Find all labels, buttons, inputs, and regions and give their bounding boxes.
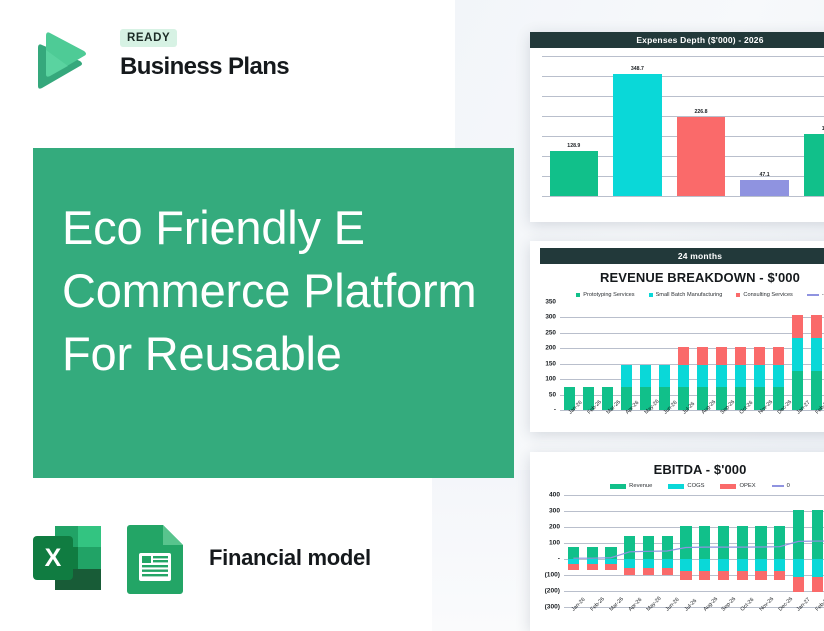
chart-legend-revenue: Prototyping ServicesSmall Batch Manufact… xyxy=(530,292,824,298)
google-sheets-icon xyxy=(123,521,187,595)
legend-item: Consulting Services xyxy=(736,292,792,298)
legend-label: OPEX xyxy=(739,483,755,489)
bar-segment xyxy=(773,347,784,365)
y-axis-tick: 300 xyxy=(549,508,560,515)
footer-label: Financial model xyxy=(209,545,371,571)
y-axis-tick: (300) xyxy=(545,604,560,611)
bar-segment xyxy=(697,347,708,365)
chart-legend-ebitda: RevenueCOGSOPEX0 xyxy=(530,483,824,489)
legend-item: - xyxy=(807,292,824,298)
gridline xyxy=(542,196,824,197)
chart-plot-revenue: 35030025020015010050-Jan-26Feb-26Mar-26A… xyxy=(560,302,824,410)
chart-banner-expenses: Expenses Depth ($'000) - 2026 xyxy=(530,32,824,48)
chart-card-expenses[interactable]: Expenses Depth ($'000) - 2026 128.9348.7… xyxy=(530,32,824,222)
ready-badge: READY xyxy=(120,29,177,47)
legend-item: Revenue xyxy=(610,483,652,489)
bar-segment xyxy=(716,347,727,365)
gridline xyxy=(560,395,824,396)
chart-plot-ebitda: 400300200100-(100)(200)(300)Jan-26Feb-26… xyxy=(564,495,824,607)
brand-name: Business Plans xyxy=(120,53,289,81)
bar xyxy=(804,134,824,196)
legend-label: COGS xyxy=(687,483,704,489)
play-triangle-logo-icon xyxy=(28,30,90,92)
y-axis-tick: 200 xyxy=(549,524,560,531)
brand-logo: READY Business Plans xyxy=(28,28,278,93)
chart-banner-revenue: 24 months xyxy=(540,248,824,264)
legend-color-swatch xyxy=(720,484,736,489)
bar-segment xyxy=(735,365,746,387)
legend-item: Prototyping Services xyxy=(576,292,634,298)
gridline xyxy=(542,76,824,77)
y-axis-tick: 200 xyxy=(545,345,556,352)
y-axis-tick: 100 xyxy=(545,376,556,383)
bar xyxy=(613,74,661,196)
y-axis-tick: (200) xyxy=(545,588,560,595)
bar-value-label: 47.1 xyxy=(760,172,770,178)
legend-label: Revenue xyxy=(629,483,652,489)
y-axis-tick: 400 xyxy=(549,492,560,499)
y-axis-tick: 250 xyxy=(545,329,556,336)
chart-title-ebitda: EBITDA - $'000 xyxy=(530,462,824,477)
legend-line-swatch xyxy=(807,294,819,296)
gridline xyxy=(542,96,824,97)
chart-card-revenue-breakdown[interactable]: 24 months REVENUE BREAKDOWN - $'000 Prot… xyxy=(530,241,824,432)
bar-segment xyxy=(678,365,689,387)
legend-color-swatch xyxy=(649,293,653,297)
bar-segment xyxy=(792,315,803,338)
chart-title-revenue: REVENUE BREAKDOWN - $'000 xyxy=(530,270,824,285)
excel-icon: X xyxy=(33,522,101,594)
y-axis-tick: (100) xyxy=(545,572,560,579)
legend-label: Consulting Services xyxy=(743,292,792,298)
bar-segment xyxy=(678,347,689,365)
svg-text:X: X xyxy=(45,544,62,572)
bar-segment xyxy=(811,315,822,338)
bar-value-label: 226.8 xyxy=(695,109,708,115)
bar-segment xyxy=(716,365,727,387)
bar xyxy=(550,151,598,196)
y-axis-tick: - xyxy=(554,407,556,414)
gridline xyxy=(560,333,824,334)
legend-color-swatch xyxy=(576,293,580,297)
legend-label: Prototyping Services xyxy=(583,292,634,298)
gridline xyxy=(560,379,824,380)
bar-segment xyxy=(640,365,651,386)
bar-segment xyxy=(811,338,822,370)
bar-segment xyxy=(773,365,784,387)
bar-segment xyxy=(621,365,632,387)
bar-value-label: 128.9 xyxy=(567,143,580,149)
bar-segment xyxy=(659,365,670,386)
page-title: Eco Friendly E Commerce Platform For Reu… xyxy=(62,196,482,385)
legend-label: - xyxy=(822,292,824,298)
y-axis-tick: 50 xyxy=(549,391,556,398)
bar xyxy=(677,117,725,196)
gridline xyxy=(560,364,824,365)
legend-color-swatch xyxy=(610,484,626,489)
bar xyxy=(740,180,788,196)
y-axis-tick: - xyxy=(558,556,560,563)
zero-line-series xyxy=(564,495,824,607)
gridline xyxy=(542,56,824,57)
legend-color-swatch xyxy=(736,293,740,297)
bar-segment xyxy=(754,365,765,387)
y-axis-tick: 300 xyxy=(545,314,556,321)
legend-label: 0 xyxy=(787,483,790,489)
legend-label: Small Batch Manufacturing xyxy=(656,292,723,298)
legend-color-swatch xyxy=(668,484,684,489)
legend-item: OPEX xyxy=(720,483,755,489)
bar-value-label: 348.7 xyxy=(631,66,644,72)
chart-card-ebitda[interactable]: EBITDA - $'000 RevenueCOGSOPEX0 40030020… xyxy=(530,452,824,631)
legend-line-swatch xyxy=(772,485,784,487)
bar-segment xyxy=(735,347,746,365)
legend-item: 0 xyxy=(772,483,790,489)
y-axis-tick: 100 xyxy=(549,540,560,547)
gridline xyxy=(560,317,824,318)
footer-row: X Financial model xyxy=(33,519,371,597)
chart-plot-expenses: 128.9348.7226.847.1176.5 xyxy=(542,56,824,196)
bar-segment xyxy=(754,347,765,365)
bar-segment xyxy=(792,338,803,370)
legend-item: Small Batch Manufacturing xyxy=(649,292,723,298)
y-axis-tick: 350 xyxy=(545,299,556,306)
bar-segment xyxy=(697,365,708,387)
legend-item: COGS xyxy=(668,483,704,489)
brand-text: READY Business Plans xyxy=(120,28,289,81)
gridline xyxy=(560,348,824,349)
y-axis-tick: 150 xyxy=(545,360,556,367)
